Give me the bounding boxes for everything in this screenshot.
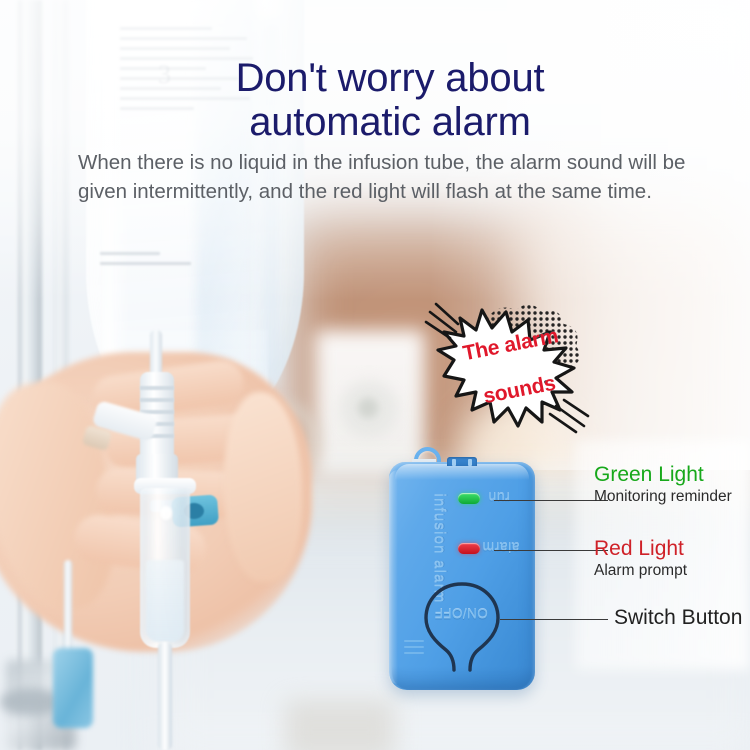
burst-shape-svg xyxy=(424,298,594,438)
callout-green-light: Green Light Monitoring reminder xyxy=(594,462,732,507)
leader-line-switch xyxy=(500,619,608,620)
red-led xyxy=(458,543,480,554)
alarm-sound-burst: The alarm sounds xyxy=(424,298,594,438)
leader-line-red xyxy=(494,550,608,551)
product-infographic: 3 Don't worry about automatic alarm When… xyxy=(0,0,750,750)
green-led xyxy=(458,493,480,504)
leader-line-green xyxy=(494,500,608,501)
callout-switch-button: Switch Button xyxy=(614,606,742,630)
page-title-line-2: automatic alarm xyxy=(90,100,690,144)
device-alarm-label: alarm xyxy=(482,540,520,556)
callout-red-title: Red Light xyxy=(594,536,687,561)
drip-droplet xyxy=(160,506,172,520)
device-run-label: run xyxy=(488,490,510,506)
drip-chamber-fluid xyxy=(146,560,184,642)
background-lower-box xyxy=(285,700,395,750)
iv-tube-lower xyxy=(158,642,172,750)
blue-tube-clip xyxy=(53,648,93,728)
burst-streaks-right xyxy=(550,400,588,432)
page-title-line-1: Don't worry about xyxy=(236,56,545,100)
description-text: When there is no liquid in the infusion … xyxy=(78,148,698,206)
device-onoff-label: ON/OFF xyxy=(430,606,492,621)
switch-button[interactable] xyxy=(420,580,504,672)
callout-green-title: Green Light xyxy=(594,462,732,487)
callout-switch-title: Switch Button xyxy=(614,606,742,630)
background-panel-dot xyxy=(358,398,378,418)
switch-button-outline xyxy=(420,580,504,672)
hand-knuckles xyxy=(224,392,302,582)
callout-green-subtitle: Monitoring reminder xyxy=(594,487,732,507)
burst-dot xyxy=(544,380,548,384)
callout-red-light: Red Light Alarm prompt xyxy=(594,536,687,581)
page-title: Don't worry about automatic alarm xyxy=(90,56,690,144)
callout-red-subtitle: Alarm prompt xyxy=(594,561,687,581)
